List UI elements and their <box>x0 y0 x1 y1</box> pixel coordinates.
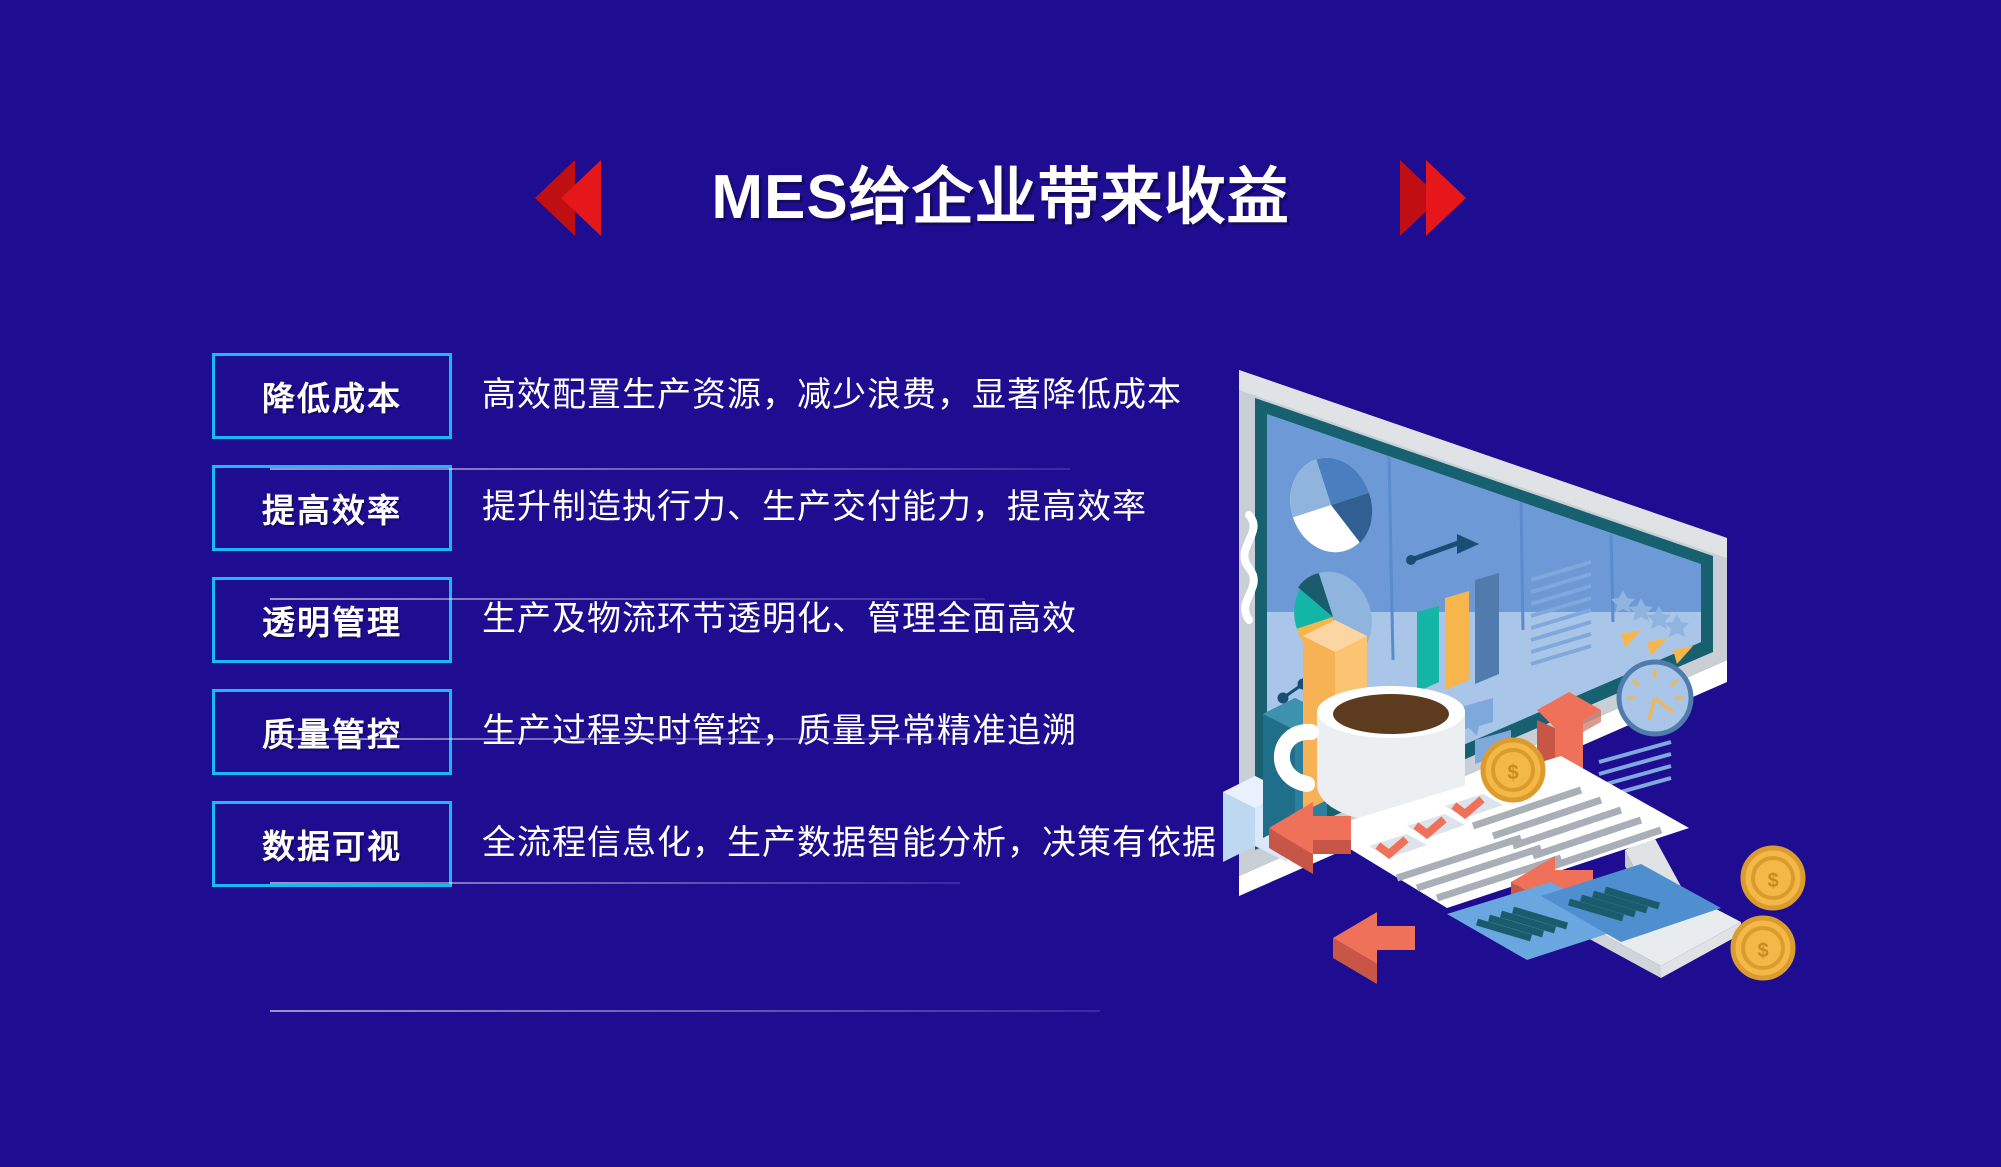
gold-coin-icon: $ <box>1733 918 1793 978</box>
row-divider <box>270 598 985 600</box>
benefit-row[interactable]: 质量管控 生产过程实时管控，质量异常精准追溯 <box>212 676 1332 788</box>
right-arrow-icon <box>1333 912 1415 984</box>
page-title: MES给企业带来收益 <box>711 167 1289 229</box>
benefit-tag: 降低成本 <box>212 353 452 439</box>
dashboard-gauge <box>1619 662 1691 734</box>
row-divider <box>270 1010 1100 1012</box>
svg-text:$: $ <box>1757 940 1768 962</box>
gold-coin-icon: $ <box>1483 740 1543 800</box>
benefit-description: 生产过程实时管控，质量异常精准追溯 <box>482 713 1077 750</box>
row-divider <box>270 468 1070 470</box>
benefit-description: 生产及物流环节透明化、管理全面高效 <box>482 601 1077 638</box>
benefit-tag: 透明管理 <box>212 577 452 663</box>
svg-text:$: $ <box>1767 870 1778 892</box>
benefits-list: 降低成本 高效配置生产资源，减少浪费，显著降低成本 提高效率 提升制造执行力、生… <box>212 340 1332 900</box>
slide-root: MES给企业带来收益 降低成本 高效配置生产资源，减少浪费，显著降低成本 提高效… <box>0 0 2001 1167</box>
isometric-business-analytics-illustration: $ $ $ <box>1221 330 1981 1070</box>
benefit-description: 提升制造执行力、生产交付能力，提高效率 <box>482 489 1147 526</box>
double-chevron-right-icon <box>1400 160 1466 236</box>
benefit-description: 高效配置生产资源，减少浪费，显著降低成本 <box>482 377 1182 414</box>
row-divider <box>270 738 970 740</box>
double-chevron-left-icon <box>535 160 601 236</box>
benefit-description: 全流程信息化，生产数据智能分析，决策有依据 <box>482 825 1217 862</box>
gold-coin-icon: $ <box>1743 848 1803 908</box>
svg-text:$: $ <box>1507 762 1518 784</box>
row-divider <box>270 882 960 884</box>
benefit-row[interactable]: 降低成本 高效配置生产资源，减少浪费，显著降低成本 <box>212 340 1332 452</box>
benefit-tag: 质量管控 <box>212 689 452 775</box>
title-row: MES给企业带来收益 <box>0 160 2001 236</box>
benefit-tag: 提高效率 <box>212 465 452 551</box>
benefit-row[interactable]: 透明管理 生产及物流环节透明化、管理全面高效 <box>212 564 1332 676</box>
benefit-tag: 数据可视 <box>212 801 452 887</box>
